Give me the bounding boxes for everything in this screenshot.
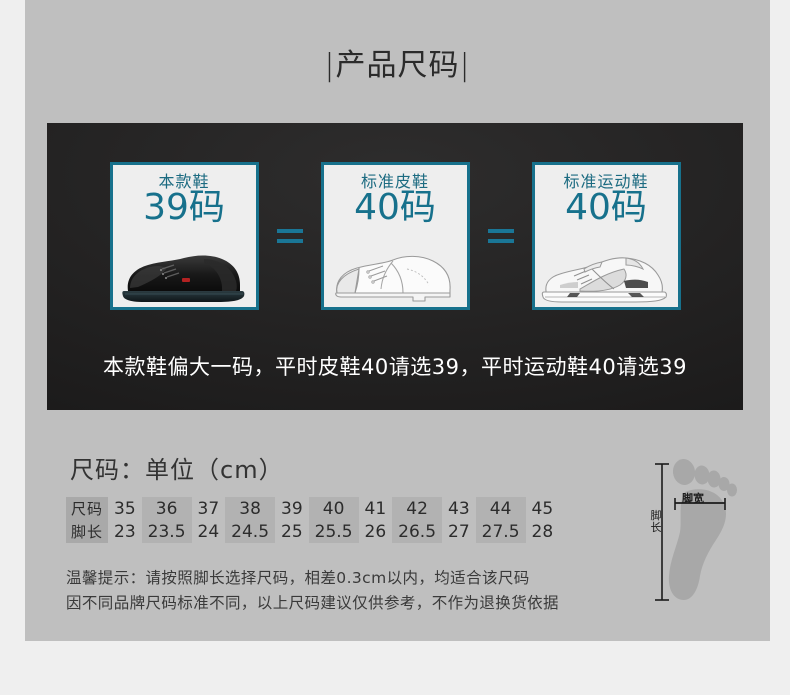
title-left-bar: | [324,48,335,83]
row-header-size: 尺码 [66,497,108,520]
cell-length-23: 23 [108,520,142,543]
size-notes: 温馨提示：请按照脚长选择尺码，相差0.3cm以内，均适合该尺码 因不同品牌尺码标… [66,566,559,616]
equals-separator-2 [470,229,532,243]
comparison-card-standard-sneaker: 标准运动鞋 40码 [532,162,681,310]
cell-length-27: 27 [442,520,476,543]
sneaker-outline-icon [535,241,678,303]
cell-length-25-5: 25.5 [309,520,359,543]
table-row: 脚长 23 23.5 24 24.5 25 25.5 26 26.5 27 27… [66,520,559,543]
cell-size-42: 42 [392,497,442,520]
note-line-1: 温馨提示：请按照脚长选择尺码，相差0.3cm以内，均适合该尺码 [66,566,559,591]
cell-size-44: 44 [476,497,526,520]
comparison-card-this-shoe: 本款鞋 39码 [110,162,259,310]
black-leather-shoe-icon [113,241,256,303]
cell-size-45: 45 [526,497,560,520]
cell-size-40: 40 [309,497,359,520]
cell-length-25: 25 [275,520,309,543]
card-size: 40码 [565,189,647,227]
size-chart-table: 尺码 35 36 37 38 39 40 41 42 43 44 45 脚长 2… [66,497,559,543]
comparison-card-standard-dress-shoe: 标准皮鞋 40码 [321,162,470,310]
cell-size-36: 36 [142,497,192,520]
cell-length-24-5: 24.5 [225,520,275,543]
size-chart-heading: 尺码：单位（cm） [70,450,284,485]
foot-length-label: 脚长 [650,510,662,534]
note-line-2: 因不同品牌尺码标准不同，以上尺码建议仅供参考，不作为退换货依据 [66,591,559,616]
title-right-bar: | [460,48,471,83]
row-header-foot-length: 脚长 [66,520,108,543]
card-size: 40码 [354,189,436,227]
page-root: |产品尺码| 本款鞋 39码 [0,0,790,695]
cell-size-38: 38 [225,497,275,520]
cell-length-28: 28 [526,520,560,543]
cell-size-35: 35 [108,497,142,520]
table-row: 尺码 35 36 37 38 39 40 41 42 43 44 45 [66,497,559,520]
title-text: 产品尺码 [336,48,460,83]
foot-measurement-diagram: 脚长 脚宽 [640,448,760,618]
size-advice-banner: 本款鞋偏大一码，平时皮鞋40请选39，平时运动鞋40请选39 [47,351,743,381]
cell-size-41: 41 [359,497,393,520]
foot-width-label: 脚宽 [682,493,704,505]
cell-length-23-5: 23.5 [142,520,192,543]
comparison-cards: 本款鞋 39码 [47,123,743,348]
cell-length-26: 26 [359,520,393,543]
cell-size-37: 37 [192,497,226,520]
cell-size-39: 39 [275,497,309,520]
page-title: |产品尺码| [25,40,770,84]
dress-shoe-outline-icon [324,241,467,303]
cell-size-43: 43 [442,497,476,520]
cell-length-26-5: 26.5 [392,520,442,543]
cell-length-24: 24 [192,520,226,543]
cell-length-27-5: 27.5 [476,520,526,543]
equals-separator-1 [259,229,321,243]
card-size: 39码 [143,189,225,227]
comparison-panel: 本款鞋 39码 [47,123,743,410]
